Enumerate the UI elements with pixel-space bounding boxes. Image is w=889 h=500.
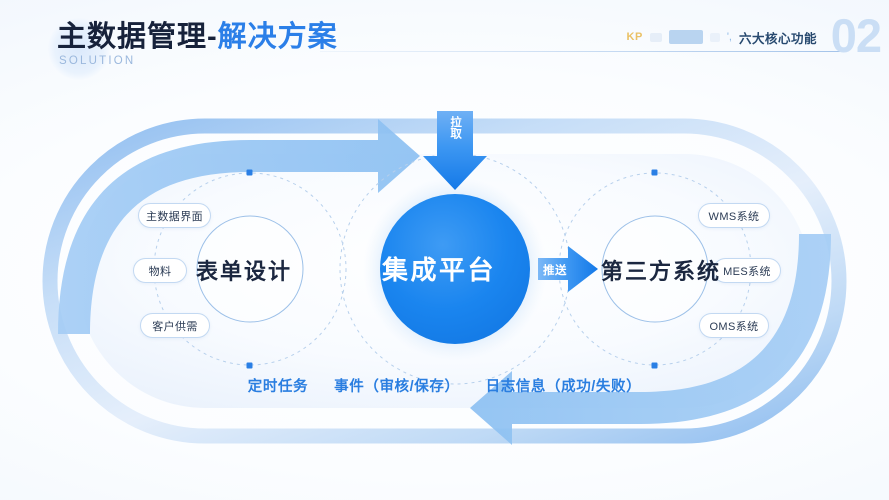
left-tag-3[interactable]: 客户供需 (140, 313, 210, 338)
right-tag-2-label: MES系统 (723, 263, 771, 279)
bottom-label-3: 日志信息（成功/失败） (486, 375, 642, 396)
left-tag-1[interactable]: 主数据界面 (138, 203, 211, 228)
center-node-label: 集成平台 (382, 250, 496, 287)
push-arrow-label: 推送 (543, 262, 567, 278)
slide-header: 主数据管理-解决方案 SOLUTION KP ', 六大核心功能 02 (0, 0, 889, 90)
slide-canvas: 主数据管理-解决方案 SOLUTION KP ', 六大核心功能 02 (0, 0, 889, 500)
left-tag-2[interactable]: 物料 (133, 258, 187, 283)
bottom-label-1: 定时任务 (248, 375, 308, 396)
header-divider (320, 51, 840, 52)
diagram-graphics (0, 86, 889, 500)
flow-diagram: 主数据界面 物料 客户供需 WMS系统 MES系统 OMS系统 表单设计 集成平… (0, 86, 889, 500)
right-node-label: 第三方系统 (601, 254, 721, 286)
page-title-accent: 解决方案 (218, 21, 338, 53)
right-tag-1-label: WMS系统 (709, 208, 760, 224)
page-title-main: 主数据管理- (57, 21, 218, 53)
section-number: 02 (831, 12, 881, 59)
right-tag-2[interactable]: MES系统 (713, 258, 781, 283)
right-tag-3-label: OMS系统 (709, 318, 758, 334)
page-subtitle: SOLUTION (59, 55, 135, 67)
kpi-mark-text: ', (727, 31, 732, 43)
right-tag-3[interactable]: OMS系统 (699, 313, 769, 338)
bottom-label-2: 事件（审核/保存） (334, 375, 459, 396)
left-tag-1-label: 主数据界面 (146, 208, 203, 224)
left-tag-2-label: 物料 (149, 263, 172, 279)
redaction-block-1 (650, 33, 662, 42)
right-tag-1[interactable]: WMS系统 (698, 203, 770, 228)
page-title: 主数据管理-解决方案 (57, 19, 338, 56)
redaction-block-3 (710, 33, 720, 42)
kpi-fragment-text: KP (627, 31, 643, 43)
header-meta-group: KP ', 六大核心功能 (627, 27, 817, 47)
header-feature-label: 六大核心功能 (739, 28, 817, 47)
pull-arrow-label: 拉取 (449, 116, 461, 139)
left-tag-3-label: 客户供需 (152, 318, 198, 334)
left-node-label: 表单设计 (196, 254, 292, 286)
redaction-block-2 (669, 30, 703, 44)
bottom-label-row: 定时任务 事件（审核/保存） 日志信息（成功/失败） (0, 375, 889, 396)
